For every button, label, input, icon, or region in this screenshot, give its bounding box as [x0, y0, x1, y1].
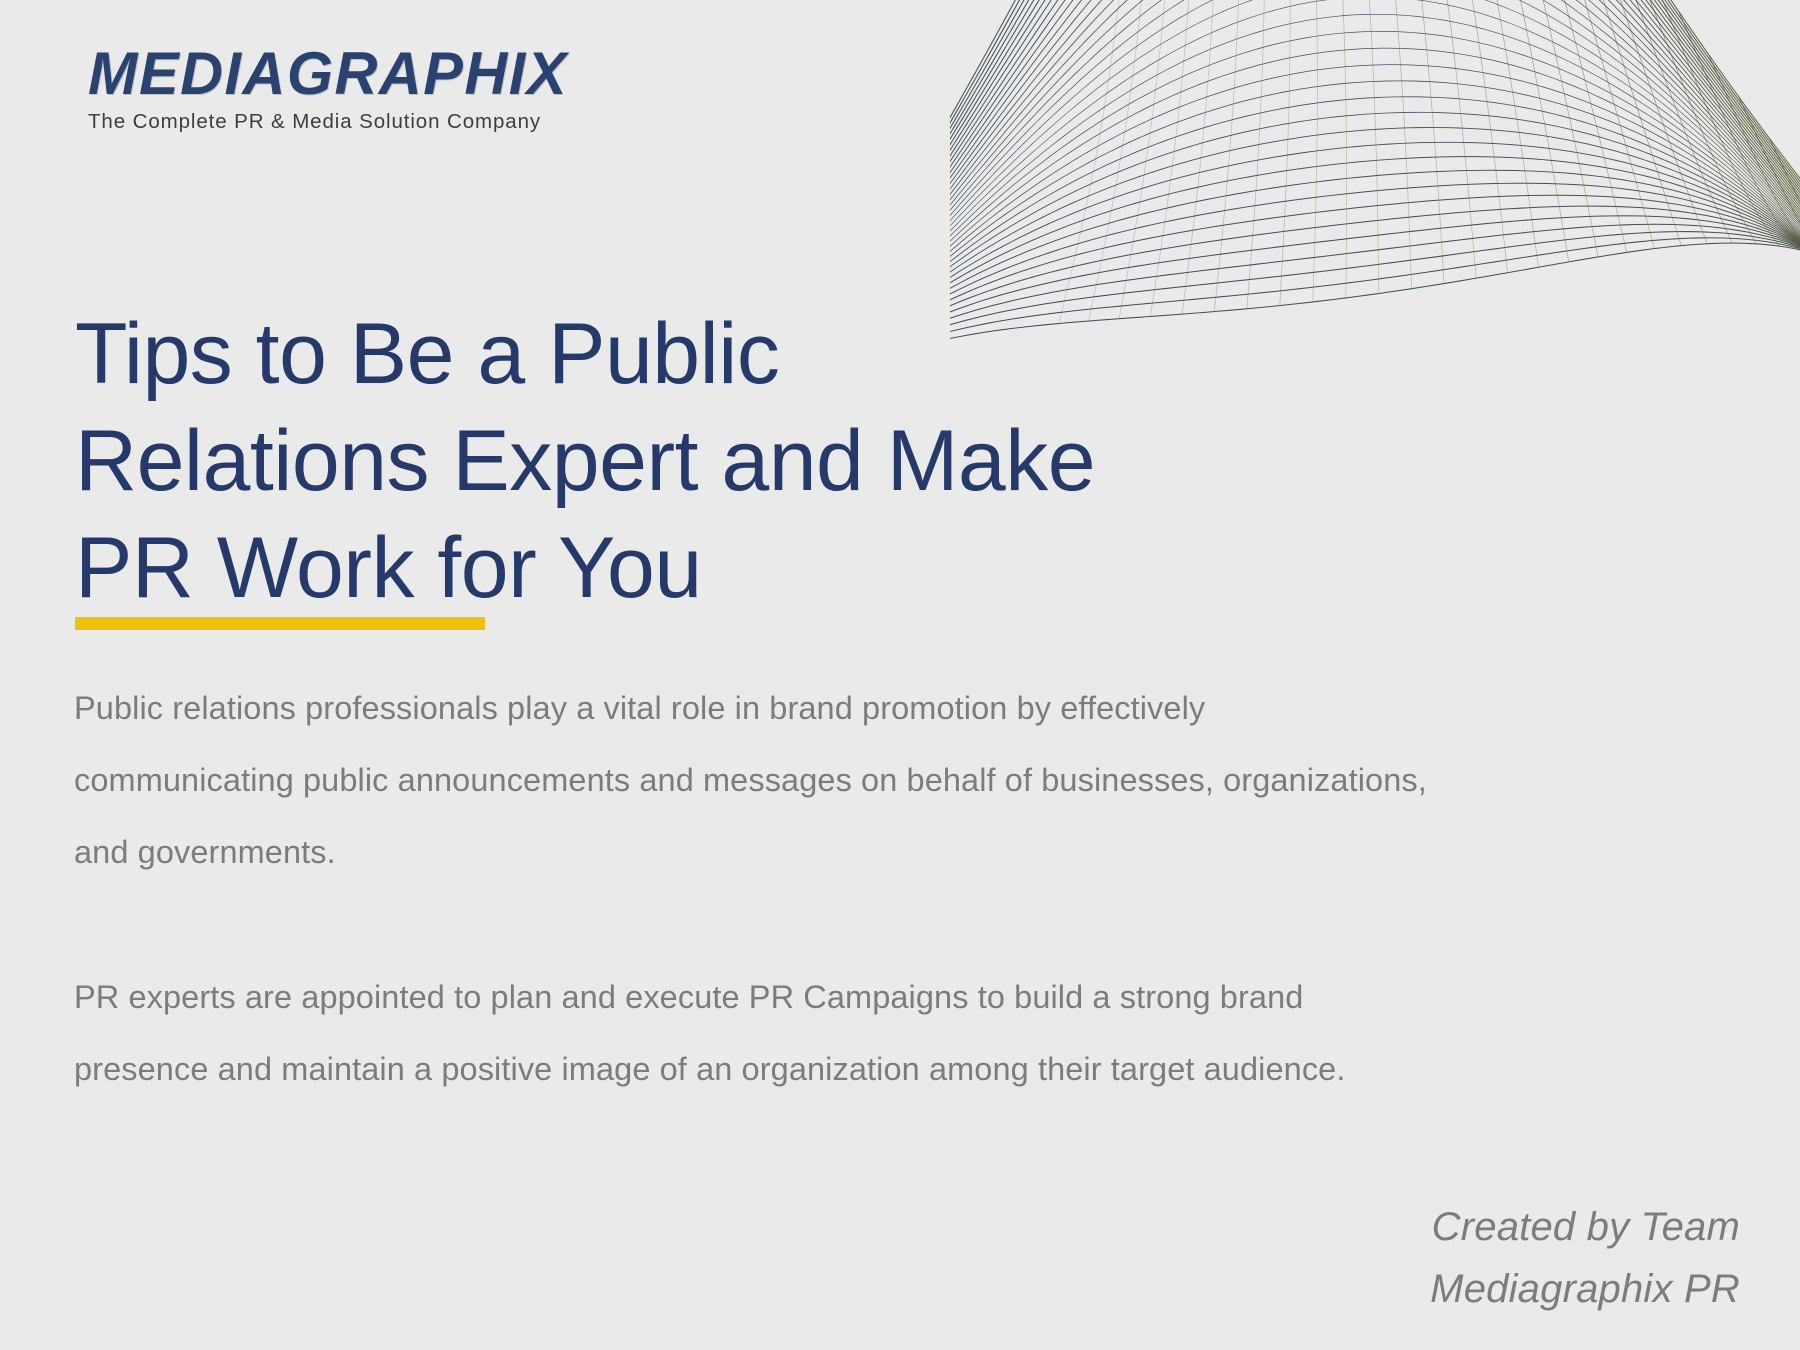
body-paragraph-1: Public relations professionals play a vi… [74, 672, 1434, 888]
credit-line: Created by Team Mediagraphix PR [1430, 1196, 1740, 1320]
body-copy: Public relations professionals play a vi… [74, 672, 1434, 1105]
brand-logo: MEDIAGRAPHIX The Complete PR & Media Sol… [88, 44, 573, 134]
accent-divider [75, 617, 485, 630]
page-title: Tips to Be a Public Relations Expert and… [75, 301, 1405, 622]
logo-tagline: The Complete PR & Media Solution Company [88, 110, 573, 134]
logo-wordmark: MEDIAGRAPHIX [88, 44, 568, 104]
credit-line-1: Created by Team [1430, 1196, 1740, 1258]
slide-canvas: MEDIAGRAPHIX The Complete PR & Media Sol… [0, 0, 1800, 1350]
page-title-line-3: PR Work for You [75, 515, 1405, 622]
credit-line-2: Mediagraphix PR [1430, 1258, 1740, 1320]
body-paragraph-2: PR experts are appointed to plan and exe… [74, 961, 1434, 1105]
page-title-line-1: Tips to Be a Public [75, 301, 1405, 408]
page-title-line-2: Relations Expert and Make [75, 408, 1405, 515]
